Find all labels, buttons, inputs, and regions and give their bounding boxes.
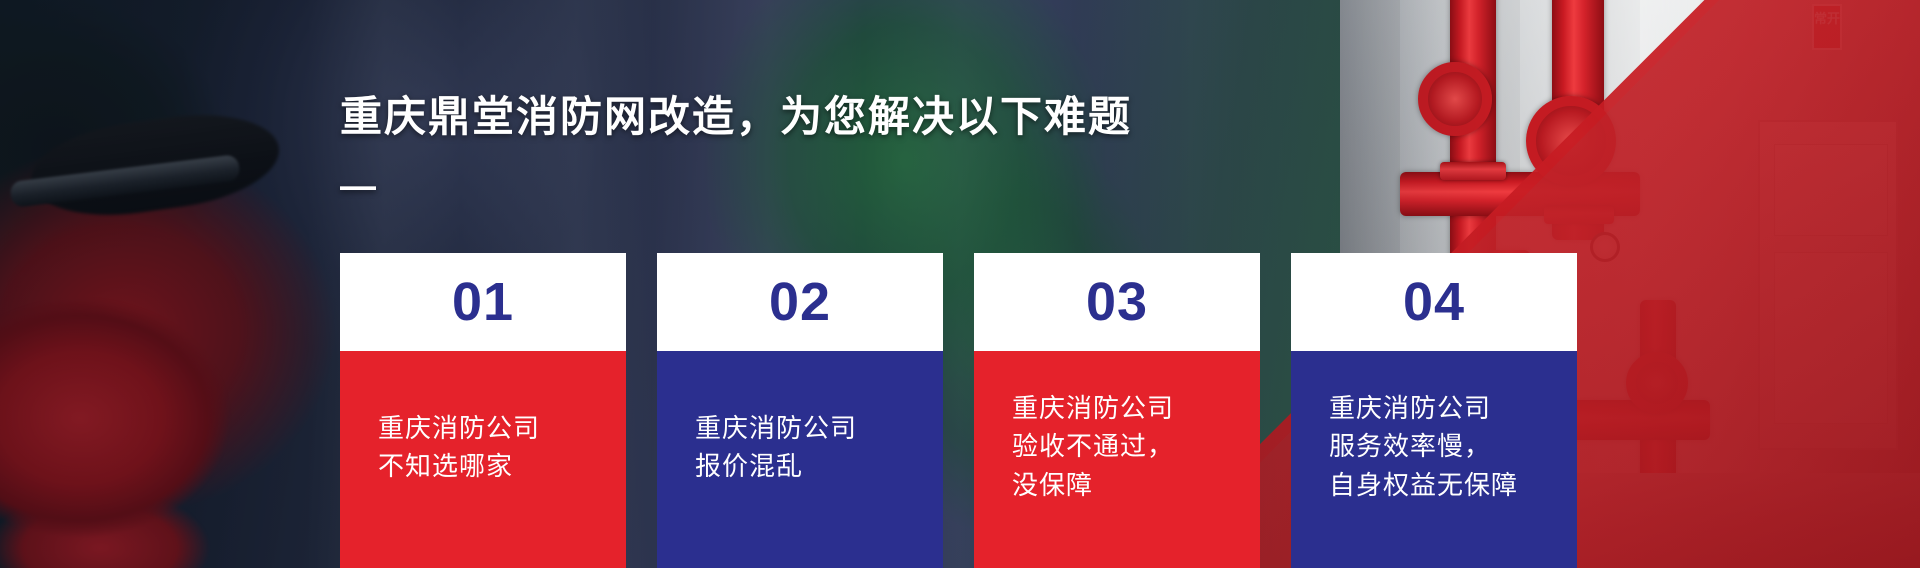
pain-point-card-03[interactable]: 03 重庆消防公司 验收不通过， 没保障	[974, 253, 1260, 568]
promo-banner: 常开 常闭 常闭 重庆鼎堂消防网改造，为您解决以下难题 — 01 重庆消防公司 …	[0, 0, 1920, 568]
card-text-line: 没保障	[1012, 466, 1260, 504]
card-text-line: 重庆消防公司	[695, 409, 943, 447]
card-number-03: 03	[974, 253, 1260, 351]
headline-dash-accent: —	[340, 168, 376, 204]
card-text-line: 自身权益无保障	[1329, 466, 1577, 504]
pain-point-card-04[interactable]: 04 重庆消防公司 服务效率慢， 自身权益无保障	[1291, 253, 1577, 568]
pain-point-card-list: 01 重庆消防公司 不知选哪家 02 重庆消防公司 报价混乱 03 重庆消防公司…	[340, 253, 1577, 568]
pain-point-card-02[interactable]: 02 重庆消防公司 报价混乱	[657, 253, 943, 568]
card-body-03: 重庆消防公司 验收不通过， 没保障	[974, 351, 1260, 568]
card-body-04: 重庆消防公司 服务效率慢， 自身权益无保障	[1291, 351, 1577, 568]
card-text-line: 服务效率慢，	[1329, 427, 1577, 465]
card-text-line: 验收不通过，	[1012, 427, 1260, 465]
pain-point-card-01[interactable]: 01 重庆消防公司 不知选哪家	[340, 253, 626, 568]
card-text-line: 不知选哪家	[378, 447, 626, 485]
card-text-line: 报价混乱	[695, 447, 943, 485]
card-number-04: 04	[1291, 253, 1577, 351]
card-text-line: 重庆消防公司	[1329, 389, 1577, 427]
banner-content: 重庆鼎堂消防网改造，为您解决以下难题 — 01 重庆消防公司 不知选哪家 02 …	[0, 0, 1920, 568]
card-body-02: 重庆消防公司 报价混乱	[657, 351, 943, 568]
card-number-02: 02	[657, 253, 943, 351]
card-text-line: 重庆消防公司	[1012, 389, 1260, 427]
card-body-01: 重庆消防公司 不知选哪家	[340, 351, 626, 568]
card-text-line: 重庆消防公司	[378, 409, 626, 447]
card-number-01: 01	[340, 253, 626, 351]
banner-headline: 重庆鼎堂消防网改造，为您解决以下难题	[340, 92, 1132, 142]
